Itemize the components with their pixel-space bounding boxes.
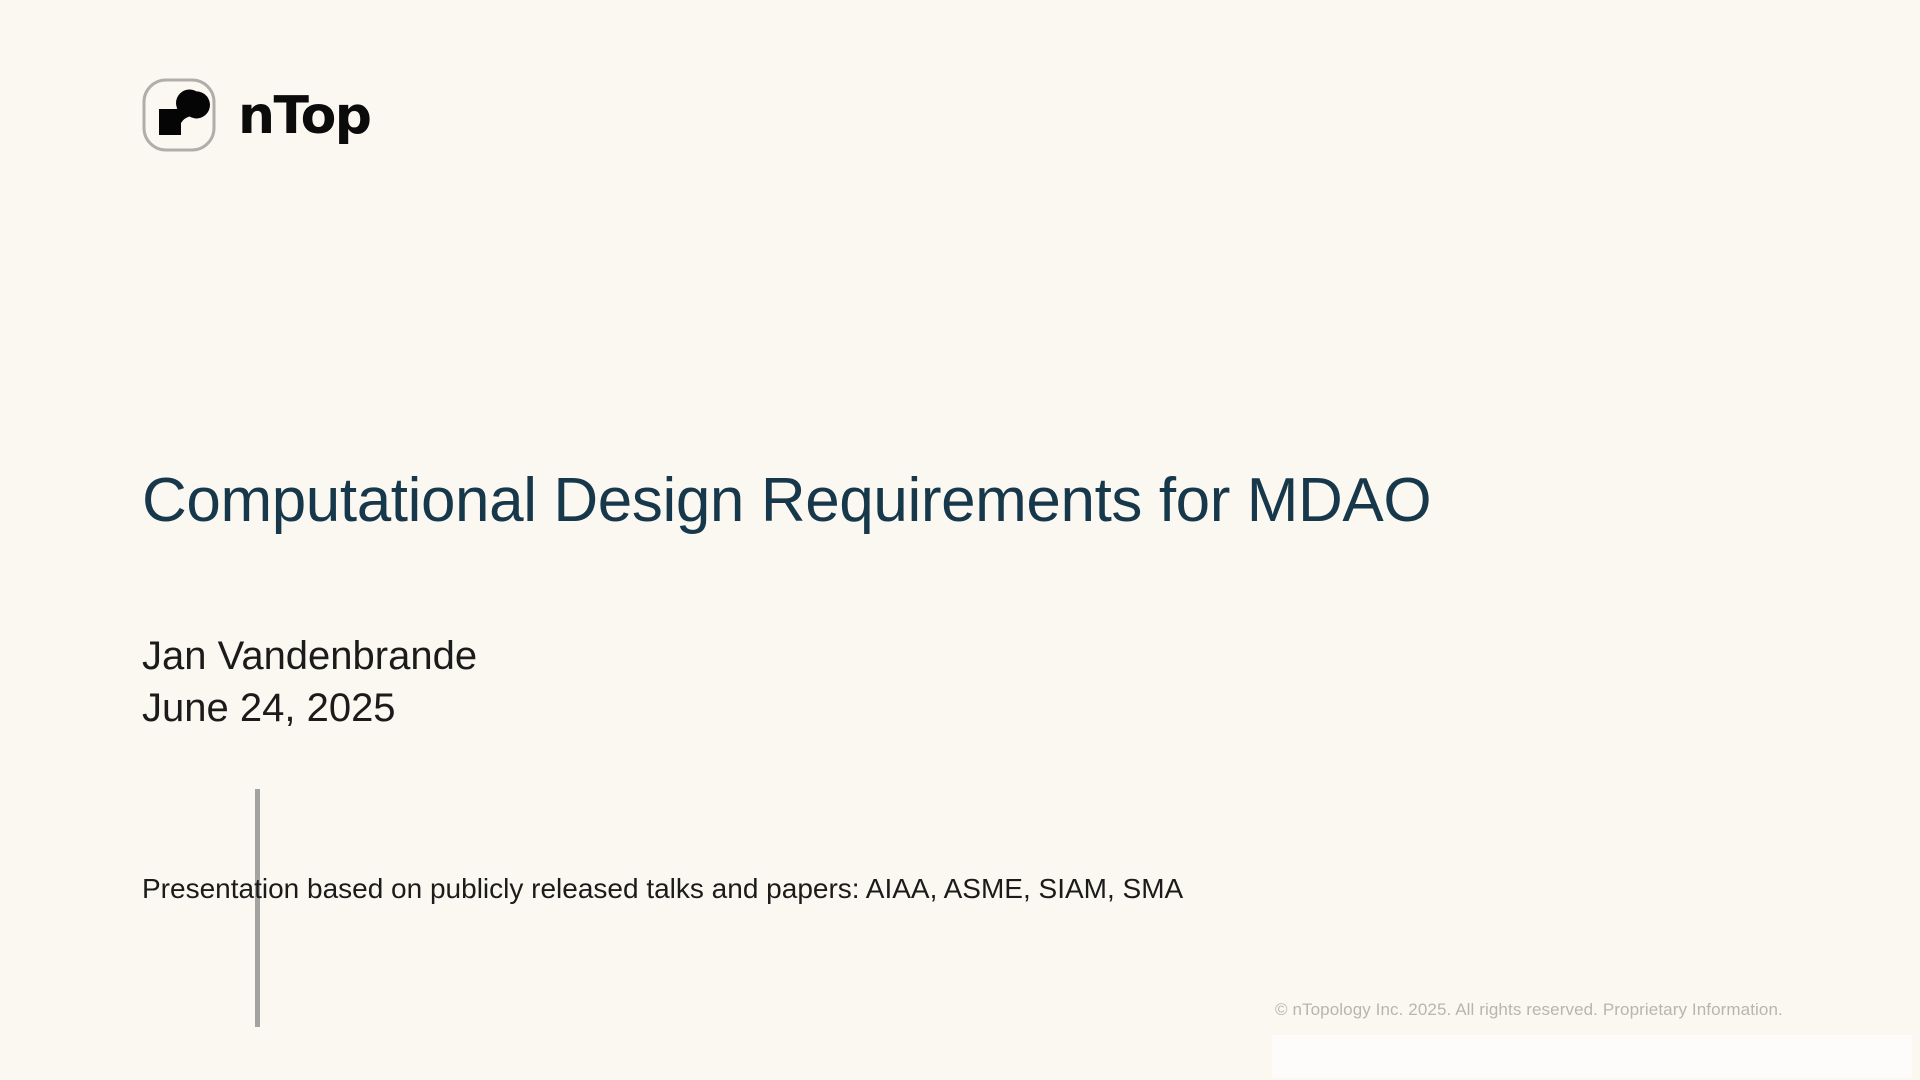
ntop-logo-mark-icon [142,78,216,152]
presentation-date: June 24, 2025 [142,683,477,735]
brand-lockup: nTop [142,78,371,152]
title-slide: nTop Computational Design Requirements f… [0,0,1920,1080]
copyright-notice: © nTopology Inc. 2025. All rights reserv… [1275,1000,1783,1020]
brand-wordmark: nTop [238,90,371,142]
footer-plate [1272,1035,1912,1078]
byline-block: Jan Vandenbrande June 24, 2025 [142,631,477,734]
vertical-accent-rule [255,789,260,1027]
source-footnote: Presentation based on publicly released … [142,872,1183,906]
page-title: Computational Design Requirements for MD… [142,466,1431,535]
author-name: Jan Vandenbrande [142,631,477,683]
